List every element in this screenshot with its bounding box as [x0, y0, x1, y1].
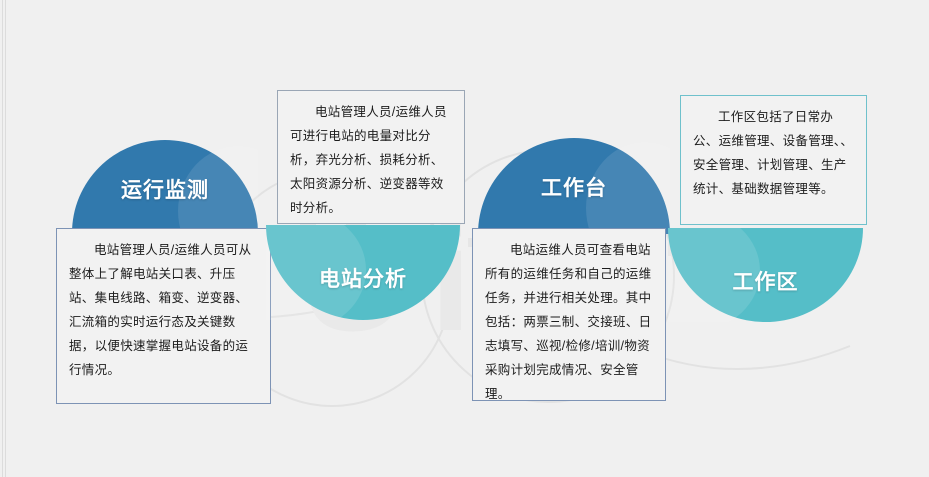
panel-circle-operation-monitoring: 运行监测	[72, 140, 258, 233]
panel-body-text: 工作区包括了日常办公、运维管理、设备管理、、安全管理、计划管理、生产统计、基础数…	[693, 105, 855, 201]
panel-body-work-area: 工作区包括了日常办公、运维管理、设备管理、、安全管理、计划管理、生产统计、基础数…	[680, 95, 867, 225]
panel-title-operation-monitoring: 运行监测	[72, 174, 258, 204]
panel-body-operation-monitoring: 电站管理人员/运维人员可从整体上了解电站关口表、升压站、集电线路、箱变、逆变器、…	[56, 228, 271, 404]
panel-body-text: 电站运维人员可查看电站所有的运维任务和自己的运维任务，并进行相关处理。其中包括：…	[485, 238, 654, 406]
panel-circle-workbench: 工作台	[478, 138, 670, 234]
slide-edge-rule-left-2	[5, 0, 6, 477]
slide-edge-rule-left	[2, 0, 3, 477]
panel-body-plant-analysis: 电站管理人员/运维人员可进行电站的电量对比分析，弃光分析、损耗分析、太阳资源分析…	[277, 90, 465, 224]
panel-title-workbench: 工作台	[478, 172, 670, 202]
panel-body-text: 电站管理人员/运维人员可从整体上了解电站关口表、升压站、集电线路、箱变、逆变器、…	[69, 238, 259, 382]
panel-body-workbench: 电站运维人员可查看电站所有的运维任务和自己的运维任务，并进行相关处理。其中包括：…	[472, 228, 666, 401]
slide-canvas: U i 运行监测 电站管理人员/运维人员可从整体上了解电站关口表、升压站、集电线…	[0, 0, 929, 477]
panel-circle-plant-analysis: 电站分析	[266, 225, 460, 320]
panel-title-work-area: 工作区	[668, 266, 863, 296]
panel-title-plant-analysis: 电站分析	[266, 263, 460, 293]
panel-circle-work-area: 工作区	[668, 228, 863, 322]
panel-body-text: 电站管理人员/运维人员可进行电站的电量对比分析，弃光分析、损耗分析、太阳资源分析…	[290, 100, 453, 220]
